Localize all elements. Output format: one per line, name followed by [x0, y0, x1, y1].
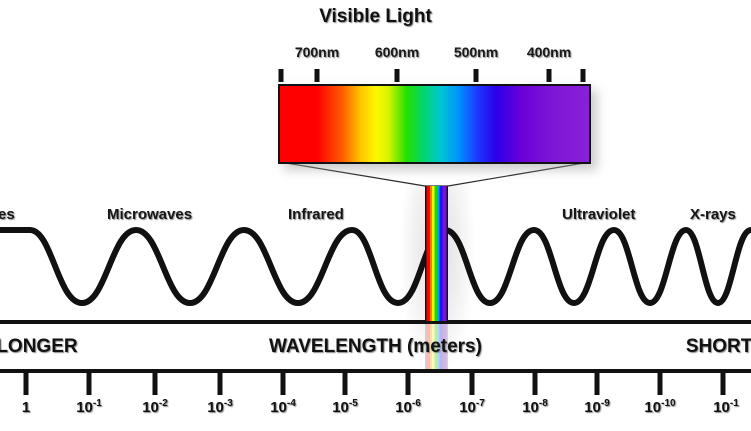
axis-tick — [218, 373, 223, 395]
microwaves-label: Microwaves — [107, 206, 192, 223]
ultraviolet-label: Ultraviolet — [562, 206, 635, 223]
axis-tick — [153, 373, 158, 395]
axis-tick — [721, 373, 726, 395]
axis-tick-label: 10-2 — [142, 398, 168, 416]
axis-tick-label: 10-3 — [207, 398, 233, 416]
spectrum-funnel — [0, 160, 751, 190]
nm-tick-mark — [395, 69, 400, 82]
wavelength-label: WAVELENGTH (meters) — [0, 336, 751, 358]
nm-tick-mark — [279, 69, 284, 82]
radio-waves-label: es — [0, 206, 15, 223]
nm-tick-mark — [315, 69, 320, 82]
visible-light-scale: 700nm 600nm 500nm 400nm — [278, 44, 590, 82]
axis-tick-label: 10-5 — [332, 398, 358, 416]
axis-tick — [343, 373, 348, 395]
axis-tick-label: 10-6 — [395, 398, 421, 416]
axis-tick — [533, 373, 538, 395]
axis-tick — [595, 373, 600, 395]
nm-tick-label-400: 400nm — [527, 44, 571, 60]
wavelength-axis: 1 10-1 10-2 10-3 10-4 10-5 10-6 10-7 10-… — [0, 373, 751, 431]
axis-tick — [658, 373, 663, 395]
shorter-label: SHORTE — [686, 336, 751, 358]
nm-tick-mark — [581, 69, 586, 82]
axis-tick — [87, 373, 92, 395]
axis-tick-label: 10-4 — [270, 398, 296, 416]
axis-tick — [281, 373, 286, 395]
infrared-label: Infrared — [288, 206, 344, 223]
visible-spectrum-box — [278, 84, 591, 164]
axis-tick — [406, 373, 411, 395]
nm-tick-label-700: 700nm — [295, 44, 339, 60]
axis-tick — [24, 373, 29, 395]
nm-tick-mark — [474, 69, 479, 82]
axis-tick — [470, 373, 475, 395]
axis-tick-label: 1 — [22, 398, 30, 416]
axis-tick-label: 10-8 — [522, 398, 548, 416]
axis-tick-label: 10-10 — [644, 398, 675, 416]
x-rays-label: X-rays — [690, 206, 736, 223]
rainbow-beam — [425, 186, 448, 321]
axis-tick-label: 10-1 — [76, 398, 102, 416]
nm-tick-label-500: 500nm — [454, 44, 498, 60]
spectrum-wave — [0, 225, 751, 320]
em-spectrum-diagram: Visible Light 700nm 600nm 500nm 400nm es… — [0, 0, 751, 431]
axis-tick-label: 10-9 — [584, 398, 610, 416]
axis-tick-label: 10-7 — [459, 398, 485, 416]
axis-tick-label: 10-1 — [713, 398, 739, 416]
page-title: Visible Light — [0, 6, 751, 28]
nm-tick-mark — [547, 69, 552, 82]
nm-tick-label-600: 600nm — [375, 44, 419, 60]
